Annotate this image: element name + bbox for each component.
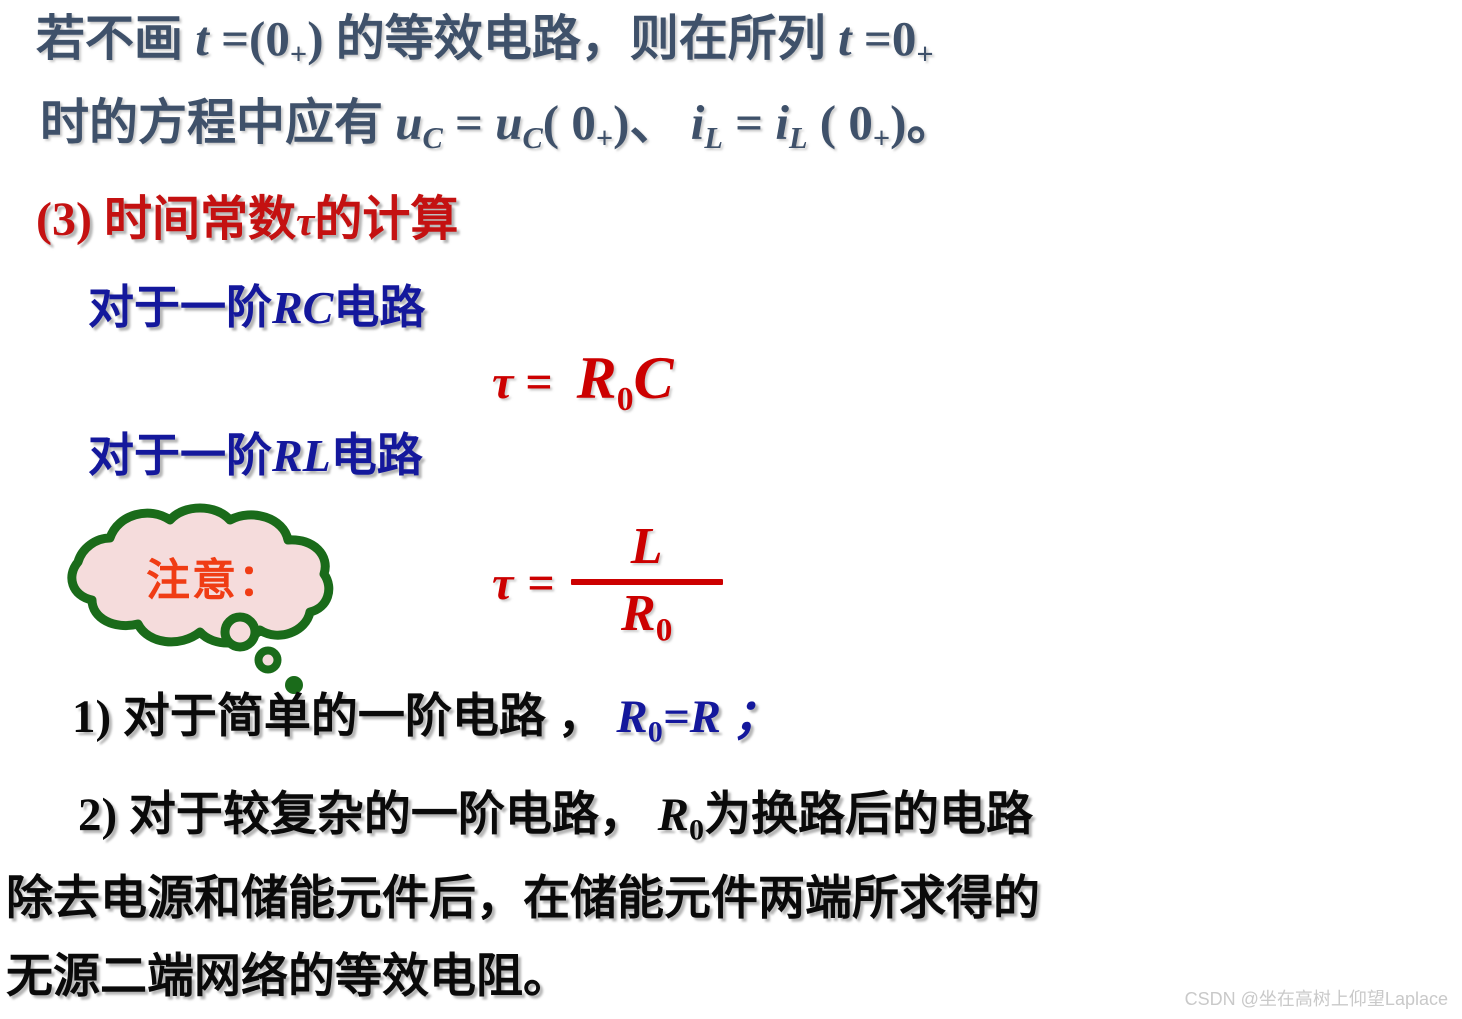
rl-label-latin: RL [272, 430, 331, 481]
rc-circuit-label: 对于一阶RC电路 [88, 285, 425, 331]
subscript-plus-2: + [916, 37, 933, 71]
fraction-L-over-R0: L R0 [571, 520, 723, 648]
variable-t-1: t [195, 11, 209, 66]
equals-2: = [723, 95, 775, 150]
resistance-R0-rc: R [577, 345, 617, 411]
intro-line-1-text-d: =0 [852, 11, 917, 66]
note-item-1: 1) 对于简单的一阶电路 ， R0=R ； [72, 694, 780, 747]
variable-i-2: i [775, 95, 789, 150]
paren-open-1: ( 0 [543, 95, 596, 150]
subscript-plus-3: + [596, 121, 613, 155]
subscript-L-1: L [704, 121, 723, 155]
variable-t-2: t [838, 11, 852, 66]
section-heading-suffix: 的计算 [314, 193, 458, 246]
note-2-subscript-zero: 0 [689, 813, 704, 847]
paren-close-1: )、 [613, 95, 691, 150]
paren-open-2: ( 0 [808, 95, 873, 150]
note-item-2-line-3: 无源二端网络的等效电阻。 [6, 954, 570, 1001]
intro-line-1-text-c: ) 的等效电路，则在所列 [307, 11, 838, 66]
intro-line-1: 若不画 t =(0+) 的等效电路，则在所列 t =0+ [36, 14, 934, 69]
section-heading: (3) 时间常数τ的计算 [36, 196, 458, 244]
equals-rc: = [525, 356, 552, 409]
note-item-2-line-2: 除去电源和储能元件后，在储能元件两端所求得的 [6, 876, 1040, 923]
formula-tau-rl: τ = L R0 [492, 520, 723, 648]
equals-1: = [443, 95, 495, 150]
tau-symbol-rc: τ [492, 356, 513, 409]
tau-symbol-rl: τ [492, 560, 513, 608]
denominator-subscript-zero: 0 [656, 611, 673, 648]
note-2-text-b: 为换路后的电路 [704, 789, 1033, 841]
subscript-plus-4: + [873, 121, 890, 155]
rc-label-post: 电路 [333, 282, 425, 333]
fraction-numerator-L: L [605, 520, 689, 575]
note-1-equals-R: =R [663, 691, 721, 743]
attention-cloud-callout: 注意： [38, 498, 338, 698]
variable-u-2: u [495, 95, 522, 150]
tau-symbol-heading: τ [296, 198, 314, 244]
rl-circuit-label: 对于一阶RL电路 [88, 433, 423, 479]
note-2-R: R [658, 789, 689, 841]
note-1-semicolon: ； [721, 691, 780, 743]
intro-line-2: 时的方程中应有 uC = uC( 0+)、 iL = iL ( 0+)。 [40, 98, 955, 153]
subscript-C-2: C [522, 121, 542, 155]
subscript-C-1: C [423, 121, 443, 155]
note-item-2: 2) 对于较复杂的一阶电路， R0为换路后的电路 [78, 792, 1033, 845]
paren-close-2: )。 [890, 95, 955, 150]
intro-line-1-text-a: 若不画 [36, 11, 195, 66]
attention-label: 注意： [146, 544, 284, 608]
variable-u-1: u [395, 95, 422, 150]
variable-i-1: i [691, 95, 705, 150]
slide-canvas: 若不画 t =(0+) 的等效电路，则在所列 t =0+ 时的方程中应有 uC … [0, 0, 1462, 1019]
subscript-L-2: L [789, 121, 808, 155]
intro-line-1-text-b: =(0 [209, 11, 290, 66]
capacitance-C-rc: C [634, 345, 674, 411]
note-1-R: R [616, 691, 647, 743]
cloud-tail-dot-2 [259, 651, 278, 670]
equals-rl: = [527, 560, 554, 608]
note-2-R0: R0 [658, 789, 704, 841]
watermark: CSDN @坐在高树上仰望Laplace [1185, 985, 1448, 1011]
rc-label-latin: RC [272, 282, 333, 333]
rl-label-post: 电路 [331, 430, 423, 481]
formula-tau-rc: τ = R0C [492, 348, 674, 416]
fraction-denominator: R0 [595, 587, 698, 649]
note-1-subscript-zero: 0 [648, 715, 663, 749]
note-1-text: 1) 对于简单的一阶电路 ， [72, 691, 616, 743]
rc-label-pre: 对于一阶 [88, 282, 272, 333]
subscript-zero-rc: 0 [617, 381, 634, 418]
denominator-R: R [621, 585, 656, 642]
note-1-formula: R0=R [616, 691, 721, 743]
rl-label-pre: 对于一阶 [88, 430, 272, 481]
section-heading-prefix: (3) 时间常数 [36, 193, 296, 246]
subscript-plus-1: + [290, 37, 307, 71]
note-2-text-a: 2) 对于较复杂的一阶电路， [78, 789, 658, 841]
intro-line-2-text-a: 时的方程中应有 [40, 95, 395, 150]
cloud-tail-dot-1 [225, 617, 255, 647]
